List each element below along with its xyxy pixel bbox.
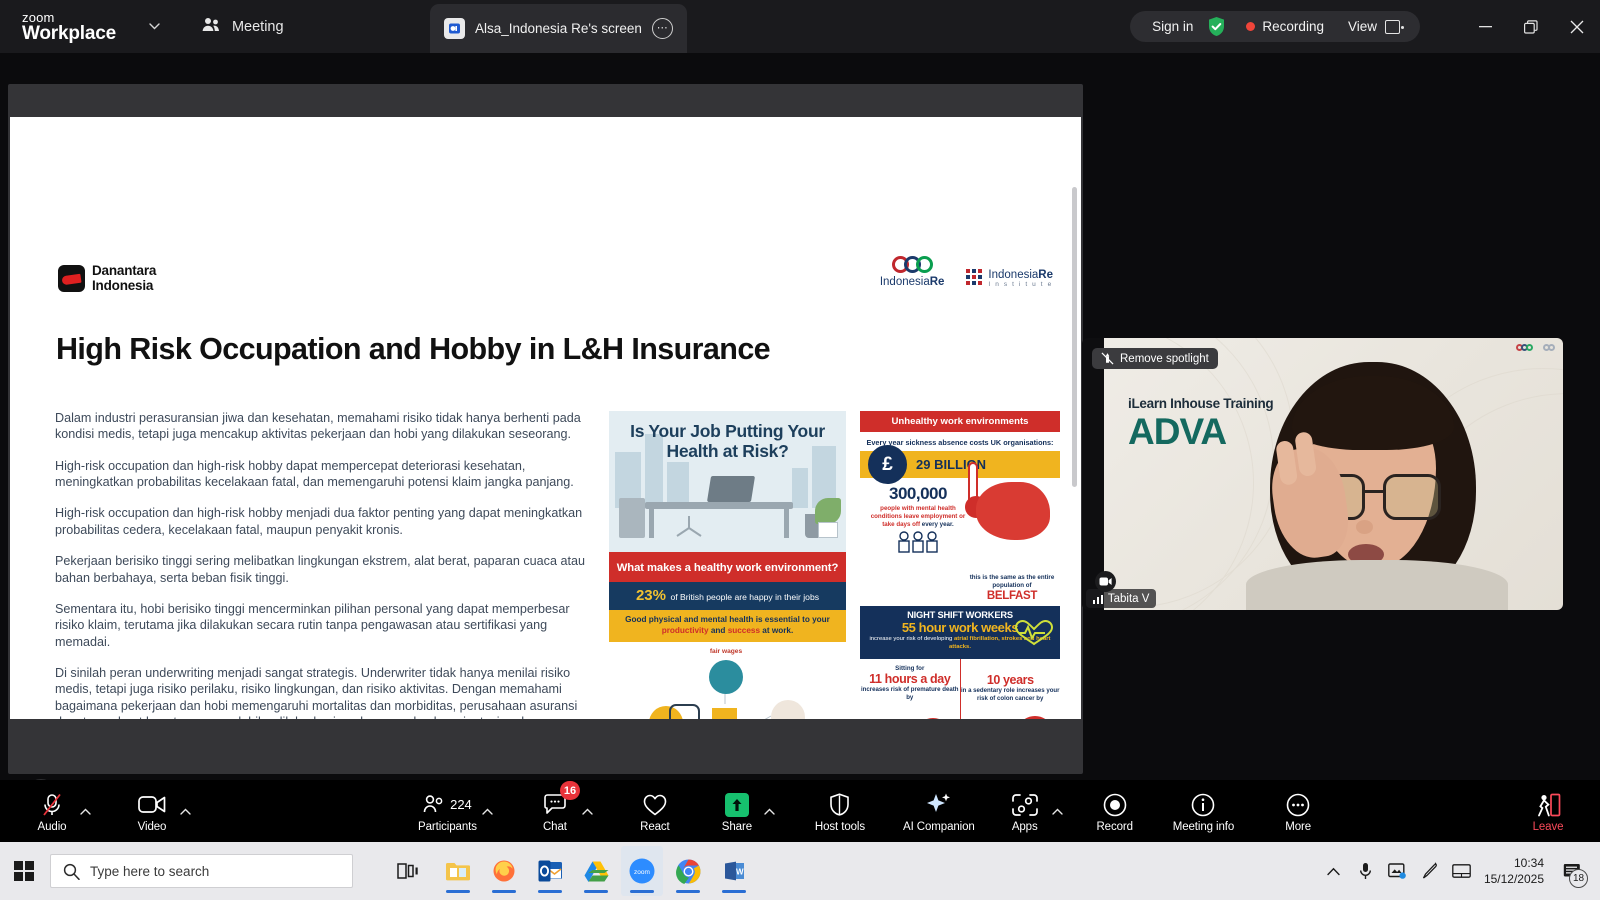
more-horizontal-icon	[1286, 793, 1310, 817]
toolbar-meeting-info[interactable]: Meeting info	[1173, 780, 1234, 842]
participants-count: 224	[450, 797, 472, 812]
pen-tray-icon[interactable]	[1414, 846, 1446, 896]
sedentary-donut-value: 2X	[1016, 716, 1054, 719]
toolbar-share-caret[interactable]	[759, 780, 781, 842]
yellow-text-2: and	[709, 626, 728, 635]
recording-label: Recording	[1262, 19, 1324, 34]
windows-taskbar: Type here to search	[0, 842, 1600, 900]
recording-dot-icon	[1246, 22, 1255, 31]
chevron-up-icon	[1052, 808, 1063, 815]
institute-label: IndonesiaRe	[988, 269, 1053, 281]
chrome-icon[interactable]	[667, 846, 709, 896]
stat-text: of British people are happy in their job…	[670, 592, 819, 602]
record-icon	[1103, 793, 1127, 817]
word-icon[interactable]: W	[713, 846, 755, 896]
spotlight-off-icon	[1101, 352, 1114, 365]
uk-map-icon	[976, 482, 1050, 540]
chevron-up-icon	[180, 808, 191, 815]
meeting-toolbar: Audio Video	[0, 780, 1600, 842]
toolbar-audio[interactable]: Audio	[30, 780, 74, 842]
participants-icon	[423, 795, 445, 814]
plant-shape	[812, 494, 842, 538]
fair-wages-icon	[709, 660, 743, 694]
slide-scrollbar[interactable]	[1072, 187, 1077, 487]
leave-door-icon	[1535, 793, 1561, 817]
recording-indicator[interactable]: Recording	[1234, 19, 1336, 34]
taskbar-clock[interactable]: 10:34 15/12/2025	[1478, 855, 1554, 887]
search-placeholder: Type here to search	[90, 864, 209, 879]
stat-300000-text: people with mental health conditions lea…	[866, 505, 970, 529]
sitting-stat: Sitting for 11 hours a day increases ris…	[860, 659, 961, 719]
red-banner-text: What makes a healthy work environment?	[617, 562, 839, 574]
restore-icon[interactable]	[1508, 0, 1554, 53]
toolbar-apps-label: Apps	[1012, 821, 1038, 833]
camera-icon	[138, 795, 166, 814]
tab-meeting-label: Meeting	[232, 19, 284, 35]
yellow-text-3: at work.	[760, 626, 793, 635]
zoom-workplace-logo: zoom Workplace	[22, 11, 116, 43]
night-shift-band-1: NIGHT SHIFT WORKERS 55 hour work weeks i…	[860, 606, 1060, 659]
sedentary-stat: 10 years in a sedentary role increases y…	[961, 659, 1061, 719]
layout-icon	[1385, 20, 1400, 34]
svg-text:zoom: zoom	[634, 869, 650, 876]
danantara-line1: Danantara	[92, 263, 156, 278]
sitting-sedentary-row: Sitting for 11 hours a day increases ris…	[860, 659, 1060, 719]
mental-health-section: 300,000 people with mental health condit…	[860, 478, 1060, 606]
task-view-icon[interactable]	[387, 846, 429, 896]
slide-title: High Risk Occupation and Hobby in L&H In…	[56, 332, 856, 367]
toolbar-video-label: Video	[138, 821, 167, 833]
shared-slide[interactable]: Danantara Indonesia IndonesiaRe Indonesi…	[10, 117, 1081, 719]
toolbar-participants[interactable]: 224 Participants	[418, 780, 477, 842]
microphone-tray-icon[interactable]	[1350, 846, 1382, 896]
toolbar-apps[interactable]: Apps	[1003, 780, 1047, 842]
slide-paragraph: Sementara itu, hobi berisiko tinggi menc…	[55, 601, 595, 650]
toolbar-react[interactable]: React	[633, 780, 677, 842]
chevron-up-icon	[80, 808, 91, 815]
toolbar-host-tools[interactable]: Host tools	[815, 780, 865, 842]
file-explorer-icon[interactable]	[437, 846, 479, 896]
participant-avatar-video	[1252, 362, 1502, 610]
google-drive-icon[interactable]	[575, 846, 617, 896]
toolbar-chat-caret[interactable]	[577, 780, 599, 842]
stat-300000: 300,000	[866, 484, 970, 504]
sedentary-big: 10 years	[961, 673, 1061, 687]
belfast-note: this is the same as the entire populatio…	[966, 574, 1058, 602]
remove-spotlight-button[interactable]: Remove spotlight	[1092, 348, 1218, 369]
workplace-wordmark: Workplace	[22, 24, 116, 43]
desk-shape	[645, 502, 793, 538]
indonesiare-institute-logo: IndonesiaRe I n s t i t u t e	[966, 266, 1053, 289]
belfast-label: BELFAST	[966, 590, 1058, 602]
screen-share-icon	[444, 18, 465, 39]
tab-screen-share-label: Alsa_Indonesia Re's screen	[475, 21, 642, 36]
chevron-up-icon	[764, 808, 775, 815]
toolbar-apps-caret[interactable]	[1047, 780, 1069, 842]
mental-health-stat: 300,000 people with mental health condit…	[866, 484, 970, 558]
apps-icon	[1012, 794, 1038, 816]
toolbar-leave-label: Leave	[1533, 821, 1564, 833]
toolbar-more-label: More	[1285, 821, 1311, 833]
show-hidden-icons-icon[interactable]	[1318, 846, 1350, 896]
label-fair-wages: fair wages	[695, 648, 757, 655]
toolbar-chat-label: Chat	[543, 821, 567, 833]
toolbar-share-label: Share	[722, 821, 752, 833]
tab-screen-share[interactable]: Alsa_Indonesia Re's screen ⋯	[430, 4, 687, 53]
outlook-icon[interactable]	[529, 846, 571, 896]
sitting-small: increases risk of premature death by	[860, 686, 960, 702]
slide-body-text: Dalam industri perasuransian jiwa dan ke…	[55, 410, 595, 719]
toolbar-ai-companion[interactable]: AI Companion	[903, 780, 975, 842]
belfast-text: this is the same as the entire populatio…	[966, 574, 1058, 590]
tab-meeting[interactable]: Meeting	[196, 0, 290, 53]
zoom-icon[interactable]: zoom	[621, 846, 663, 896]
toolbar-record[interactable]: Record	[1093, 780, 1137, 842]
night-shift-1-heading: NIGHT SHIFT WORKERS	[866, 610, 1054, 620]
slide-paragraph: Pekerjaan berisiko tinggi sering melibat…	[55, 553, 595, 586]
taskbar-apps: zoom W	[437, 846, 755, 896]
yellow-highlight-1: productivity	[662, 626, 709, 635]
heart-pulse-icon	[1014, 620, 1054, 646]
institute-dots-icon	[966, 269, 982, 285]
clock-date: 15/12/2025	[1484, 871, 1544, 887]
sign-in-button[interactable]: Sign in	[1142, 19, 1203, 34]
infographic-diagram: fair wages sleep & unwinding diet & exer…	[609, 642, 846, 719]
sparkle-icon	[926, 792, 952, 817]
zoom-app-window: zoom Workplace Meeting Alsa_Indonesia Re…	[0, 0, 1600, 900]
title-bar: zoom Workplace Meeting Alsa_Indonesia Re…	[0, 0, 1600, 53]
infographic-hero: Is Your Job Putting Your Health at Risk?	[609, 411, 846, 552]
notifications-icon[interactable]: 18	[1554, 846, 1592, 896]
view-label: View	[1348, 19, 1377, 34]
participant-name-badge: Tabita V	[1086, 589, 1156, 608]
indonesiare-label: IndonesiaRe	[880, 276, 945, 288]
infographic-health-at-risk: Is Your Job Putting Your Health at Risk?	[609, 411, 846, 719]
cabinet-shape	[619, 498, 645, 538]
remove-spotlight-label: Remove spotlight	[1120, 353, 1209, 365]
close-icon[interactable]	[1554, 0, 1600, 53]
share-screen-icon	[725, 793, 749, 817]
slide-paragraph: High-risk occupation dan high-risk hobby…	[55, 505, 595, 538]
toolbar-more[interactable]: More	[1276, 780, 1320, 842]
toolbar-participants-caret[interactable]	[477, 780, 499, 842]
info-icon	[1191, 793, 1215, 817]
danantara-mark-icon	[58, 265, 85, 292]
sitting-big: 11 hours a day	[860, 672, 960, 686]
danantara-line2: Indonesia	[92, 278, 156, 293]
unhealthy-red-banner: Unhealthy work environments	[860, 411, 1060, 432]
video-bg-title-big: ADVA	[1128, 413, 1226, 450]
yellow-text-1: Good physical and mental health is essen…	[625, 615, 830, 624]
slide-paragraph: High-risk occupation dan high-risk hobby…	[55, 458, 595, 491]
toolbar-ai-companion-label: AI Companion	[903, 821, 975, 833]
infographic-red-banner: What makes a healthy work environment?	[609, 552, 846, 582]
shield-icon	[829, 793, 850, 816]
windows-start-icon[interactable]	[0, 842, 48, 900]
slide-paragraph: Dalam industri perasuransian jiwa dan ke…	[55, 410, 595, 443]
indonesiare-rings-icon	[880, 256, 945, 273]
people-icon	[202, 17, 221, 36]
toolbar-video[interactable]: Video	[130, 780, 174, 842]
search-icon	[63, 863, 80, 880]
toolbar-host-tools-label: Host tools	[815, 821, 865, 833]
toolbar-video-caret[interactable]	[174, 780, 196, 842]
infographic-headline: Is Your Job Putting Your Health at Risk?	[609, 411, 846, 461]
shared-screen-frame: Danantara Indonesia IndonesiaRe Indonesi…	[8, 84, 1083, 774]
building-shape	[792, 468, 808, 508]
video-background-logos	[1516, 344, 1555, 351]
video-feed: iLearn Inhouse Training ADVA ✦ ✦	[1104, 338, 1563, 610]
yellow-highlight-2: success	[728, 626, 760, 635]
slide-paragraph: Di sinilah peran underwriting menjadi sa…	[55, 665, 595, 719]
infographic-yellow-band: Good physical and mental health is essen…	[609, 610, 846, 642]
system-tray: 10:34 15/12/2025 18	[1318, 846, 1600, 896]
titlebar-status-pill: Sign in Recording View	[1130, 11, 1420, 42]
more-horizontal-icon[interactable]: ⋯	[652, 18, 673, 39]
infographic-stat-band: 23% of British people are happy in their…	[609, 582, 846, 610]
sitting-kicker: Sitting for	[860, 665, 960, 672]
onedrive-sync-icon[interactable]	[1382, 846, 1414, 896]
minimize-icon[interactable]	[1462, 0, 1508, 53]
chevron-up-icon	[482, 808, 493, 815]
toolbar-meeting-info-label: Meeting info	[1173, 821, 1234, 833]
svg-text:W: W	[736, 868, 744, 877]
shield-check-icon[interactable]	[1207, 16, 1226, 37]
touchpad-icon[interactable]	[1446, 846, 1478, 896]
institute-sublabel: I n s t i t u t e	[988, 282, 1053, 289]
microphone-muted-icon	[41, 793, 63, 817]
window-controls	[1462, 0, 1600, 53]
toolbar-participants-label: Participants	[418, 821, 477, 833]
infographic-unhealthy-work: Unhealthy work environments Every year s…	[860, 411, 1060, 719]
cost-band: £ 29 BILLION	[860, 451, 1060, 478]
notification-count: 18	[1569, 869, 1588, 888]
laptop-icon	[707, 476, 755, 502]
people-group-icon	[896, 531, 940, 553]
partner-logos: IndonesiaRe IndonesiaRe I n s t i t u t …	[880, 256, 1053, 288]
share-stage: Danantara Indonesia IndonesiaRe Indonesi…	[0, 53, 1600, 780]
chair-shape	[673, 516, 705, 538]
indonesiare-logo: IndonesiaRe	[880, 256, 945, 288]
building-main-shape	[712, 708, 737, 719]
chevron-up-icon	[582, 808, 593, 815]
sitting-donut-value: 40%	[914, 718, 952, 719]
firefox-icon[interactable]	[483, 846, 525, 896]
view-button[interactable]: View	[1336, 19, 1408, 34]
sedentary-small: in a sedentary role increases your risk …	[961, 687, 1061, 703]
participant-name: Tabita V	[1108, 593, 1150, 605]
indonesiare-institute-icon	[1543, 344, 1555, 351]
clock-time: 10:34	[1484, 855, 1544, 871]
indonesiare-rings-icon	[1516, 344, 1533, 351]
signal-bars-icon	[1093, 594, 1103, 604]
toolbar-share[interactable]: Share	[715, 780, 759, 842]
chevron-down-icon[interactable]	[144, 16, 166, 38]
participant-video-tile[interactable]: iLearn Inhouse Training ADVA ✦ ✦	[1082, 338, 1563, 610]
toolbar-audio-label: Audio	[38, 821, 67, 833]
zoom-wordmark: zoom	[22, 11, 116, 24]
danantara-logo: Danantara Indonesia	[58, 263, 156, 293]
heart-icon	[643, 794, 667, 816]
toolbar-chat[interactable]: 16 Chat	[533, 780, 577, 842]
smiley-bubble-icon	[669, 704, 700, 719]
toolbar-record-label: Record	[1096, 821, 1132, 833]
toolbar-leave[interactable]: Leave	[1526, 780, 1570, 842]
stat-percent: 23%	[636, 587, 666, 604]
toolbar-react-label: React	[640, 821, 670, 833]
search-input[interactable]: Type here to search	[50, 854, 353, 888]
toolbar-audio-caret[interactable]	[74, 780, 96, 842]
